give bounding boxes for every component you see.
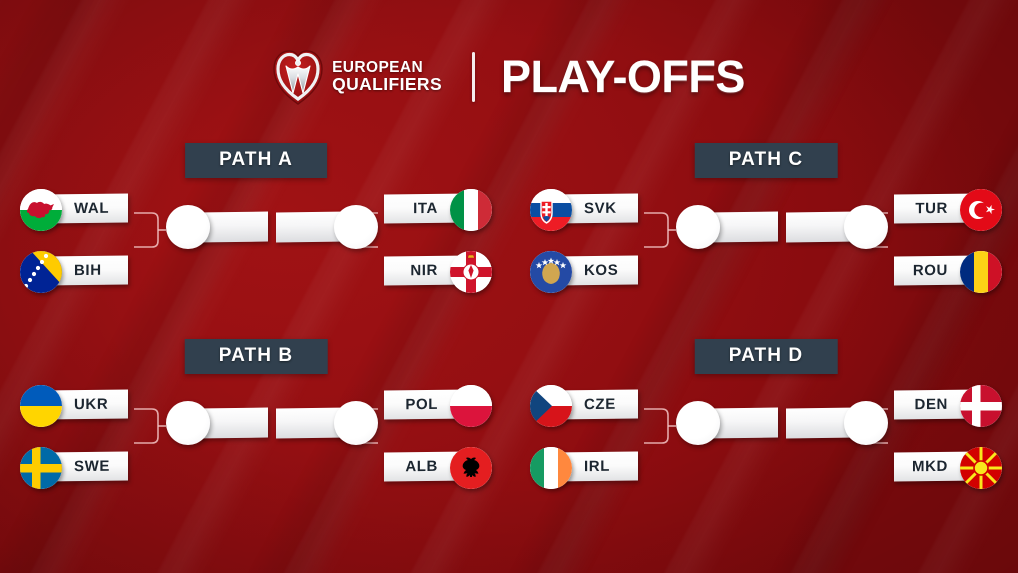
path-c-title: PATH C <box>695 143 838 178</box>
team-alb[interactable]: ALB <box>384 447 492 485</box>
path-a-final-slot[interactable] <box>262 205 378 249</box>
team-swe[interactable]: SWE <box>20 447 128 485</box>
team-code: POL <box>405 396 438 413</box>
albania-flag <box>450 447 492 489</box>
czech-republic-flag <box>530 385 572 427</box>
team-code: KOS <box>584 262 618 279</box>
team-code: IRL <box>584 458 610 475</box>
sweden-flag <box>20 447 62 489</box>
team-svk[interactable]: SVK <box>530 189 638 227</box>
poland-flag <box>450 385 492 427</box>
team-code: BIH <box>74 262 102 279</box>
path-b-final-slot[interactable] <box>262 401 378 445</box>
path-bracket-d: PATH D CZE IRL <box>516 331 1016 531</box>
playoff-brackets: PATH A WAL BIH <box>0 0 1018 573</box>
team-code: ITA <box>413 200 438 217</box>
northern-ireland-flag <box>450 251 492 293</box>
path-bracket-b: PATH B UKR SWE <box>6 331 506 531</box>
team-code: ROU <box>913 262 948 279</box>
path-bracket-c: PATH C SVK KOS <box>516 135 1016 335</box>
team-den[interactable]: DEN <box>894 385 1002 423</box>
empty-flag-placeholder <box>844 205 888 249</box>
team-code: UKR <box>74 396 108 413</box>
team-rou[interactable]: ROU <box>894 251 1002 289</box>
empty-flag-placeholder <box>676 205 720 249</box>
team-code: SWE <box>74 458 110 475</box>
slovakia-flag <box>530 189 572 231</box>
empty-flag-placeholder <box>334 401 378 445</box>
italy-flag <box>450 189 492 231</box>
team-irl[interactable]: IRL <box>530 447 638 485</box>
kosovo-flag <box>530 251 572 293</box>
team-tur[interactable]: TUR <box>894 189 1002 227</box>
romania-flag <box>960 251 1002 293</box>
team-bih[interactable]: BIH <box>20 251 128 289</box>
path-d-final-slot[interactable] <box>772 401 888 445</box>
team-code: WAL <box>74 200 109 217</box>
empty-flag-placeholder <box>166 401 210 445</box>
team-code: DEN <box>915 396 948 413</box>
team-nir[interactable]: NIR <box>384 251 492 289</box>
team-code: SVK <box>584 200 617 217</box>
team-ukr[interactable]: UKR <box>20 385 128 423</box>
team-cze[interactable]: CZE <box>530 385 638 423</box>
empty-flag-placeholder <box>166 205 210 249</box>
bosnia-and-herzegovina-flag <box>20 251 62 293</box>
ukraine-flag <box>20 385 62 427</box>
denmark-flag <box>960 385 1002 427</box>
path-bracket-a: PATH A WAL BIH <box>6 135 506 335</box>
team-mkd[interactable]: MKD <box>894 447 1002 485</box>
empty-flag-placeholder <box>334 205 378 249</box>
team-pol[interactable]: POL <box>384 385 492 423</box>
team-wal[interactable]: WAL <box>20 189 128 227</box>
team-ita[interactable]: ITA <box>384 189 492 227</box>
empty-flag-placeholder <box>844 401 888 445</box>
team-code: ALB <box>405 458 438 475</box>
team-kos[interactable]: KOS <box>530 251 638 289</box>
empty-flag-placeholder <box>676 401 720 445</box>
path-a-title: PATH A <box>185 143 327 178</box>
team-code: TUR <box>915 200 948 217</box>
path-c-final-slot[interactable] <box>772 205 888 249</box>
team-code: CZE <box>584 396 616 413</box>
north-macedonia-flag <box>960 447 1002 489</box>
turkey-flag <box>960 189 1002 231</box>
republic-of-ireland-flag <box>530 447 572 489</box>
team-code: NIR <box>410 262 438 279</box>
path-d-title: PATH D <box>695 339 838 374</box>
path-b-title: PATH B <box>185 339 328 374</box>
wales-flag <box>20 189 62 231</box>
team-code: MKD <box>912 458 948 475</box>
